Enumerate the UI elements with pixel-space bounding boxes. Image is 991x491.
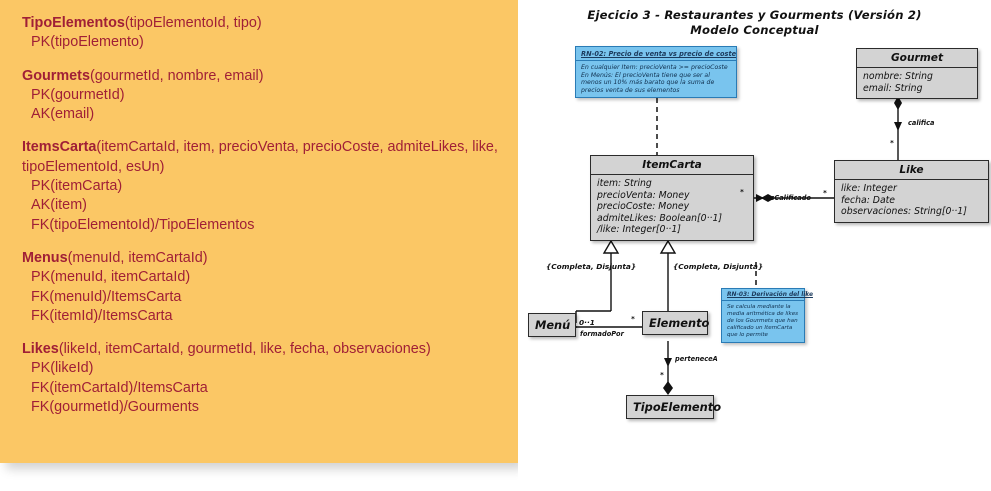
- relation-constraint: FK(tipoElementoId)/TipoElementos: [22, 216, 508, 235]
- class-attributes-itemcarta: item: String precioVenta: Money precioCo…: [591, 174, 753, 240]
- relation-header: ItemsCarta(itemCartaId, item, precioVent…: [22, 138, 508, 177]
- composition-diamond-tipoelemento: [663, 381, 673, 395]
- relation-name: TipoElementos: [22, 15, 125, 31]
- multiplicity-itemcarta-like: *: [740, 187, 744, 196]
- class-box-menu: Menú: [528, 313, 576, 337]
- class-box-itemcarta: ItemCarta item: String precioVenta: Mone…: [590, 155, 754, 241]
- navigation-arrow-escalificado: [756, 194, 764, 202]
- relation-attributes: (menuId, itemCartaId): [68, 250, 208, 266]
- note-rn02-body: En cualquier Item: precioVenta >= precio…: [576, 61, 736, 97]
- attribute: fecha: Date: [841, 195, 983, 207]
- relation-constraint: FK(itemCartaId)/ItemsCarta: [22, 379, 508, 398]
- relation-attributes: (tipoElementoId, tipo): [125, 15, 262, 31]
- relation-name: Gourmets: [22, 68, 90, 84]
- relation-constraint: FK(gourmetId)/Gourments: [22, 398, 508, 417]
- class-name-gourmet: Gourmet: [857, 49, 977, 67]
- class-name-itemcarta: ItemCarta: [591, 156, 753, 174]
- constraint-label-left: {Completa, Disjunta}: [546, 262, 636, 271]
- class-attributes-like: like: Integer fecha: Date observaciones:…: [835, 179, 988, 222]
- role-label-califica: califica: [908, 119, 934, 127]
- role-label-escalificado: esCalificado: [766, 194, 811, 202]
- class-box-elemento: Elemento: [642, 311, 708, 335]
- class-box-tipoelemento: TipoElemento: [626, 395, 714, 419]
- relation-block: Menus(menuId, itemCartaId) PK(menuId, it…: [22, 249, 508, 326]
- generalization-triangle-left: [604, 241, 618, 253]
- attribute: like: Integer: [841, 183, 983, 195]
- relation-constraint: FK(menuId)/ItemsCarta: [22, 288, 508, 307]
- class-box-gourmet: Gourmet nombre: String email: String: [856, 48, 978, 99]
- attribute: item: String: [597, 178, 748, 190]
- relation-header: Likes(likeId, itemCartaId, gourmetId, li…: [22, 340, 508, 359]
- attribute: admiteLikes: Boolean[0··1]: [597, 213, 748, 225]
- role-label-formadopor: formadoPor: [580, 330, 624, 338]
- relation-name: ItemsCarta: [22, 139, 96, 155]
- attribute: precioCoste: Money: [597, 201, 748, 213]
- class-name-menu: Menú: [529, 314, 575, 336]
- constraint-label-right: {Completa, Disjunta}: [673, 262, 763, 271]
- uml-conceptual-model-panel: Ejecicio 3 - Restaurantes y Gourments (V…: [518, 0, 991, 491]
- relation-header: Menus(menuId, itemCartaId): [22, 249, 508, 268]
- relational-schema-list: TipoElementos(tipoElementoId, tipo) PK(t…: [22, 14, 508, 431]
- generalization-triangle-right: [661, 241, 675, 253]
- navigation-arrow-perteneceа: [664, 358, 672, 367]
- attribute: email: String: [863, 83, 972, 95]
- relation-attributes: (gourmetId, nombre, email): [90, 68, 264, 84]
- relational-schema-panel: TipoElementos(tipoElementoId, tipo) PK(t…: [0, 0, 518, 463]
- class-attributes-gourmet: nombre: String email: String: [857, 67, 977, 98]
- relation-constraint: AK(item): [22, 196, 508, 215]
- class-name-tipoelemento: TipoElemento: [627, 396, 713, 418]
- note-rn02-header: RN-02: Precio de venta vs precio de cost…: [576, 47, 736, 61]
- relation-header: TipoElementos(tipoElementoId, tipo): [22, 14, 508, 33]
- multiplicity-gourmet-like: *: [890, 138, 894, 147]
- attribute: observaciones: String[0··1]: [841, 206, 983, 218]
- relation-constraint: FK(itemId)/ItemsCarta: [22, 307, 508, 326]
- relation-name: Likes: [22, 341, 59, 357]
- note-rn03-header: RN-03: Derivación del like: [722, 289, 804, 301]
- class-name-like: Like: [835, 161, 988, 179]
- attribute: precioVenta: Money: [597, 190, 748, 202]
- note-rn03: RN-03: Derivación del like Se calcula me…: [721, 288, 805, 343]
- relation-block: ItemsCarta(itemCartaId, item, precioVent…: [22, 138, 508, 234]
- relation-attributes: (likeId, itemCartaId, gourmetId, like, f…: [59, 341, 431, 357]
- relation-block: Likes(likeId, itemCartaId, gourmetId, li…: [22, 340, 508, 417]
- attribute: /like: Integer[0··1]: [597, 224, 748, 236]
- relation-block: Gourmets(gourmetId, nombre, email) PK(go…: [22, 67, 508, 125]
- relation-constraint: PK(itemCarta): [22, 177, 508, 196]
- class-name-elemento: Elemento: [643, 312, 707, 334]
- note-rn02: RN-02: Precio de venta vs precio de cost…: [575, 46, 737, 98]
- attribute: nombre: String: [863, 71, 972, 83]
- relation-constraint: AK(email): [22, 105, 508, 124]
- relation-constraint: PK(likeId): [22, 359, 508, 378]
- multiplicity-elemento-menu: *: [631, 314, 635, 323]
- multiplicity-like-itemcarta: *: [823, 188, 827, 197]
- relation-name: Menus: [22, 250, 68, 266]
- relation-constraint: PK(menuId, itemCartaId): [22, 268, 508, 287]
- multiplicity-menu: 0··1: [579, 318, 595, 327]
- class-box-like: Like like: Integer fecha: Date observaci…: [834, 160, 989, 223]
- note-rn03-body: Se calcula mediante la media aritmética …: [722, 301, 804, 342]
- relation-header: Gourmets(gourmetId, nombre, email): [22, 67, 508, 86]
- role-label-perteneceа: perteneceA: [675, 355, 718, 363]
- relation-constraint: PK(tipoElemento): [22, 33, 508, 52]
- relation-constraint: PK(gourmetId): [22, 86, 508, 105]
- multiplicity-elemento-tipo: *: [660, 370, 664, 379]
- relation-block: TipoElementos(tipoElementoId, tipo) PK(t…: [22, 14, 508, 53]
- navigation-arrow-califica: [894, 122, 902, 131]
